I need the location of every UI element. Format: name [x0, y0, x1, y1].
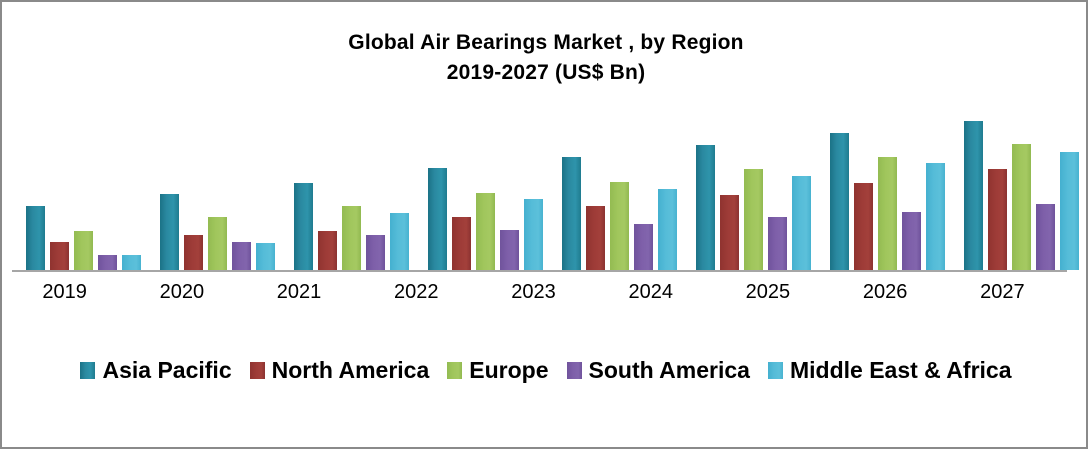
bar-asia-pacific-2020[interactable]: [160, 194, 179, 270]
bar-middle-east-africa-2025[interactable]: [926, 163, 945, 270]
bar-north-america-2022[interactable]: [452, 217, 471, 270]
bar-north-america-2020[interactable]: [184, 235, 203, 270]
bar-middle-east-africa-2026[interactable]: [1060, 152, 1079, 270]
legend-swatch-icon: [768, 362, 783, 379]
legend-label: Asia Pacific: [102, 357, 231, 384]
bar-group-2023: [548, 82, 682, 270]
legend-swatch-icon: [447, 362, 462, 379]
bar-south-america-2020[interactable]: [232, 242, 251, 270]
x-tick-label-2027: 2027: [950, 278, 1067, 308]
bar-asia-pacific-2025[interactable]: [830, 133, 849, 270]
x-axis-line: [12, 270, 1067, 272]
x-tick-label-2021: 2021: [246, 278, 363, 308]
bar-group-2025: [816, 82, 950, 270]
legend-item-middle-east-africa[interactable]: Middle East & Africa: [768, 357, 1012, 384]
legend-item-asia-pacific[interactable]: Asia Pacific: [80, 357, 231, 384]
bar-europe-2025[interactable]: [878, 157, 897, 270]
legend-label: North America: [272, 357, 430, 384]
x-tick-label-2025: 2025: [715, 278, 832, 308]
legend-label: Europe: [469, 357, 548, 384]
legend-item-south-america[interactable]: South America: [567, 357, 750, 384]
bar-group-2027: [1084, 82, 1088, 270]
bar-group-2021: [280, 82, 414, 270]
bar-middle-east-africa-2021[interactable]: [390, 213, 409, 270]
bar-south-america-2025[interactable]: [902, 212, 921, 270]
x-tick-label-2026: 2026: [833, 278, 950, 308]
legend-item-europe[interactable]: Europe: [447, 357, 548, 384]
bar-group-2020: [146, 82, 280, 270]
bar-groups: [12, 82, 1067, 270]
bar-north-america-2023[interactable]: [586, 206, 605, 270]
bar-asia-pacific-2021[interactable]: [294, 183, 313, 270]
bar-europe-2026[interactable]: [1012, 144, 1031, 270]
bar-asia-pacific-2019[interactable]: [26, 206, 45, 270]
bar-middle-east-africa-2024[interactable]: [792, 176, 811, 270]
bar-europe-2024[interactable]: [744, 169, 763, 270]
bar-south-america-2021[interactable]: [366, 235, 385, 270]
chart-title: Global Air Bearings Market , by Region 2…: [2, 28, 1088, 88]
legend-item-north-america[interactable]: North America: [250, 357, 430, 384]
bar-middle-east-africa-2022[interactable]: [524, 199, 543, 270]
bar-south-america-2023[interactable]: [634, 224, 653, 270]
bar-south-america-2026[interactable]: [1036, 204, 1055, 270]
bar-group-2026: [950, 82, 1084, 270]
x-tick-label-2022: 2022: [364, 278, 481, 308]
x-tick-label-2024: 2024: [598, 278, 715, 308]
bar-group-2022: [414, 82, 548, 270]
bar-south-america-2019[interactable]: [98, 255, 117, 270]
bar-north-america-2025[interactable]: [854, 183, 873, 270]
bar-europe-2022[interactable]: [476, 193, 495, 270]
legend-swatch-icon: [250, 362, 265, 379]
bar-middle-east-africa-2019[interactable]: [122, 255, 141, 270]
x-axis-tick-labels: 201920202021202220232024202520262027: [12, 278, 1067, 308]
bar-group-2024: [682, 82, 816, 270]
bar-south-america-2022[interactable]: [500, 230, 519, 270]
bar-europe-2021[interactable]: [342, 206, 361, 270]
bar-south-america-2024[interactable]: [768, 217, 787, 270]
bar-middle-east-africa-2020[interactable]: [256, 243, 275, 270]
x-tick-label-2020: 2020: [129, 278, 246, 308]
bar-north-america-2019[interactable]: [50, 242, 69, 270]
chart-legend: Asia PacificNorth AmericaEuropeSouth Ame…: [2, 357, 1088, 384]
bar-asia-pacific-2022[interactable]: [428, 168, 447, 270]
bar-middle-east-africa-2023[interactable]: [658, 189, 677, 270]
bar-europe-2019[interactable]: [74, 231, 93, 270]
x-tick-label-2023: 2023: [481, 278, 598, 308]
bar-group-2019: [12, 82, 146, 270]
bar-europe-2020[interactable]: [208, 217, 227, 270]
legend-swatch-icon: [567, 362, 582, 379]
legend-swatch-icon: [80, 362, 95, 379]
x-tick-label-2019: 2019: [12, 278, 129, 308]
chart-title-line-1: Global Air Bearings Market , by Region: [2, 28, 1088, 58]
bar-asia-pacific-2023[interactable]: [562, 157, 581, 270]
bar-north-america-2021[interactable]: [318, 231, 337, 270]
plot-area: [12, 82, 1080, 272]
legend-label: South America: [589, 357, 750, 384]
bar-north-america-2024[interactable]: [720, 195, 739, 270]
bar-asia-pacific-2026[interactable]: [964, 121, 983, 270]
bar-europe-2023[interactable]: [610, 182, 629, 270]
legend-label: Middle East & Africa: [790, 357, 1012, 384]
chart-container: Global Air Bearings Market , by Region 2…: [0, 0, 1088, 449]
bar-north-america-2026[interactable]: [988, 169, 1007, 270]
bar-asia-pacific-2024[interactable]: [696, 145, 715, 270]
